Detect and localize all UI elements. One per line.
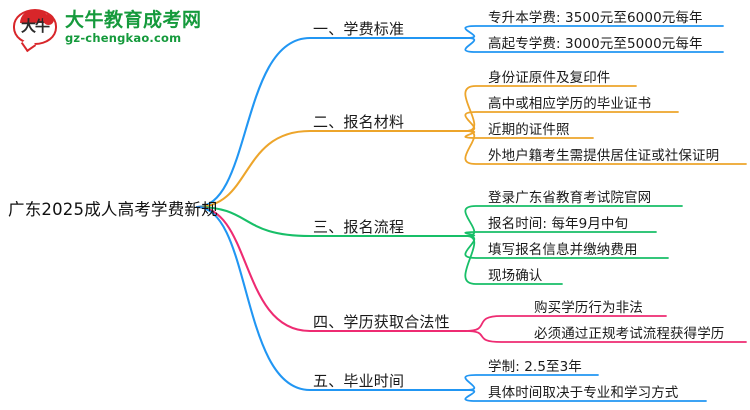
mindmap-canvas: 大牛 大牛教育成考网 gz-chengkao.com 广东2025成人高考学费新… — [0, 0, 750, 410]
leaf-node-4-1[interactable]: 购买学历行为非法 — [534, 296, 643, 316]
branch-node-5[interactable]: 五、毕业时间 — [313, 370, 404, 391]
connector-line — [465, 232, 656, 236]
leaf-node-3-3[interactable]: 填写报名信息并缴纳费用 — [488, 238, 638, 258]
branch-node-1[interactable]: 一、学费标准 — [313, 18, 404, 39]
root-node[interactable]: 广东2025成人高考学费新规 — [8, 196, 218, 220]
connector-line — [197, 131, 466, 207]
leaf-node-3-2[interactable]: 报名时间: 每年9月中旬 — [488, 212, 628, 232]
branch-node-4[interactable]: 四、学历获取合法性 — [313, 311, 450, 332]
site-logo[interactable]: 大牛 大牛教育成考网 gz-chengkao.com — [12, 6, 202, 50]
logo-badge-icon: 大牛 — [12, 6, 58, 50]
logo-title: 大牛教育成考网 — [65, 11, 202, 31]
leaf-node-4-2[interactable]: 必须通过正规考试流程获得学历 — [534, 322, 724, 342]
leaf-node-5-1[interactable]: 学制: 2.5至3年 — [488, 355, 582, 375]
logo-text-block: 大牛教育成考网 gz-chengkao.com — [65, 11, 202, 45]
leaf-node-3-1[interactable]: 登录广东省教育考试院官网 — [488, 186, 651, 206]
leaf-node-1-2[interactable]: 高起专学费: 3000元至5000元每年 — [488, 32, 703, 52]
branch-node-2[interactable]: 二、报名材料 — [313, 111, 404, 132]
branch-node-3[interactable]: 三、报名流程 — [313, 216, 404, 237]
leaf-node-2-1[interactable]: 身份证原件及复印件 — [488, 66, 610, 86]
leaf-node-2-2[interactable]: 高中或相应学历的毕业证书 — [488, 92, 651, 112]
leaf-node-1-1[interactable]: 专升本学费: 3500元至6000元每年 — [488, 6, 703, 26]
leaf-node-5-2[interactable]: 具体时间取决于专业和学习方式 — [488, 381, 678, 401]
logo-dot-icon — [43, 14, 54, 25]
logo-subtitle: gz-chengkao.com — [65, 31, 202, 45]
leaf-node-2-3[interactable]: 近期的证件照 — [488, 118, 570, 138]
leaf-node-2-4[interactable]: 外地户籍考生需提供居住证或社保证明 — [488, 144, 719, 164]
leaf-node-3-4[interactable]: 现场确认 — [488, 264, 542, 284]
